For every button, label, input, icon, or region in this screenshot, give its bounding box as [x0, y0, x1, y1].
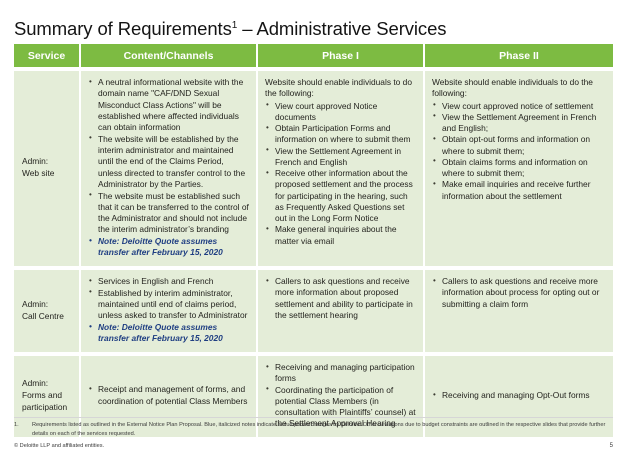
page-title-main: Summary of Requirements	[14, 18, 232, 39]
list-item: Obtain Participation Forms and informati…	[265, 123, 416, 146]
list-item: Established by interim administrator, ma…	[88, 288, 249, 322]
lead-in-text: Website should enable individuals to do …	[432, 77, 606, 100]
list-item-note: Note: Deloitte Quote assumes transfer af…	[88, 322, 249, 345]
list-item: The website must be established such tha…	[88, 191, 249, 236]
service-label-line: participation	[22, 402, 72, 414]
bullet-list: Services in English and French Establish…	[88, 276, 249, 345]
bullet-list: Receiving and managing participation for…	[265, 362, 416, 430]
footnote: 1. Requirements listed as outlined in th…	[14, 421, 614, 438]
slide-canvas: Summary of Requirements1 – Administrativ…	[0, 0, 624, 465]
service-label-line: Admin:	[22, 156, 72, 168]
list-item: View the Settlement Agreement in French …	[265, 146, 416, 169]
footer-divider	[14, 417, 613, 418]
service-label-line: Forms and	[22, 390, 72, 402]
bullet-list: A neutral informational website with the…	[88, 77, 249, 259]
column-header-content-channels: Content/Channels	[81, 44, 258, 67]
bullet-list: Receipt and management of forms, and coo…	[88, 384, 249, 408]
page-title-tail: – Administrative Services	[237, 18, 446, 39]
service-cell: Admin: Web site	[14, 71, 81, 266]
column-header-service: Service	[14, 44, 81, 67]
list-item: Receiving and managing Opt-Out forms	[432, 390, 606, 401]
footnote-number: 1.	[14, 421, 32, 438]
column-header-phase-2: Phase II	[425, 44, 613, 67]
service-label-line: Call Centre	[22, 311, 72, 323]
copyright-text: © Deloitte LLP and affiliated entities.	[14, 443, 104, 449]
list-item: Callers to ask questions and receive mor…	[265, 276, 416, 321]
column-header-phase-1: Phase I	[258, 44, 425, 67]
lead-in-text: Website should enable individuals to do …	[265, 77, 416, 100]
footnote-text: Requirements listed as outlined in the E…	[32, 421, 614, 438]
list-item: Receipt and management of forms, and coo…	[88, 384, 249, 408]
list-item: The website will be established by the i…	[88, 134, 249, 190]
list-item: Services in English and French	[88, 276, 249, 287]
bullet-list: Callers to ask questions and receive mor…	[265, 276, 416, 321]
phase-2-cell: Callers to ask questions and receive mor…	[425, 270, 613, 352]
list-item: Make general inquiries about the matter …	[265, 224, 416, 247]
service-label-line: Admin:	[22, 378, 72, 390]
phase-1-cell: Callers to ask questions and receive mor…	[258, 270, 425, 352]
list-item: Receiving and managing participation for…	[265, 362, 416, 385]
requirements-table: Service Content/Channels Phase I Phase I…	[14, 44, 613, 437]
page-number: 5	[610, 443, 613, 449]
service-label-line: Web site	[22, 168, 72, 180]
service-label-line: Admin:	[22, 299, 72, 311]
list-item: A neutral informational website with the…	[88, 77, 249, 133]
service-cell: Admin: Call Centre	[14, 270, 81, 352]
table-row: Admin: Web site A neutral informational …	[14, 71, 613, 266]
bullet-list: Receiving and managing Opt-Out forms	[432, 390, 606, 401]
content-channels-cell: Services in English and French Establish…	[81, 270, 258, 352]
bullet-list: Callers to ask questions and receive mor…	[432, 276, 606, 310]
list-item: Obtain opt-out forms and information on …	[432, 134, 606, 157]
phase-1-cell: Website should enable individuals to do …	[258, 71, 425, 266]
list-item: View court approved Notice documents	[265, 101, 416, 124]
list-item: View court approved notice of settlement	[432, 101, 606, 112]
list-item: Callers to ask questions and receive mor…	[432, 276, 606, 310]
list-item: View the Settlement Agreement in French …	[432, 112, 606, 135]
table-header-row: Service Content/Channels Phase I Phase I…	[14, 44, 613, 67]
list-item-note: Note: Deloitte Quote assumes transfer af…	[88, 236, 249, 259]
page-title: Summary of Requirements1 – Administrativ…	[14, 18, 614, 40]
table-row: Admin: Call Centre Services in English a…	[14, 270, 613, 352]
phase-2-cell: Website should enable individuals to do …	[425, 71, 613, 266]
list-item: Make email inquiries and receive further…	[432, 179, 606, 202]
content-channels-cell: A neutral informational website with the…	[81, 71, 258, 266]
bullet-list: View court approved notice of settlement…	[432, 101, 606, 202]
bullet-list: View court approved Notice documents Obt…	[265, 101, 416, 247]
list-item: Receive other information about the prop…	[265, 168, 416, 224]
list-item: Obtain claims forms and information on w…	[432, 157, 606, 180]
